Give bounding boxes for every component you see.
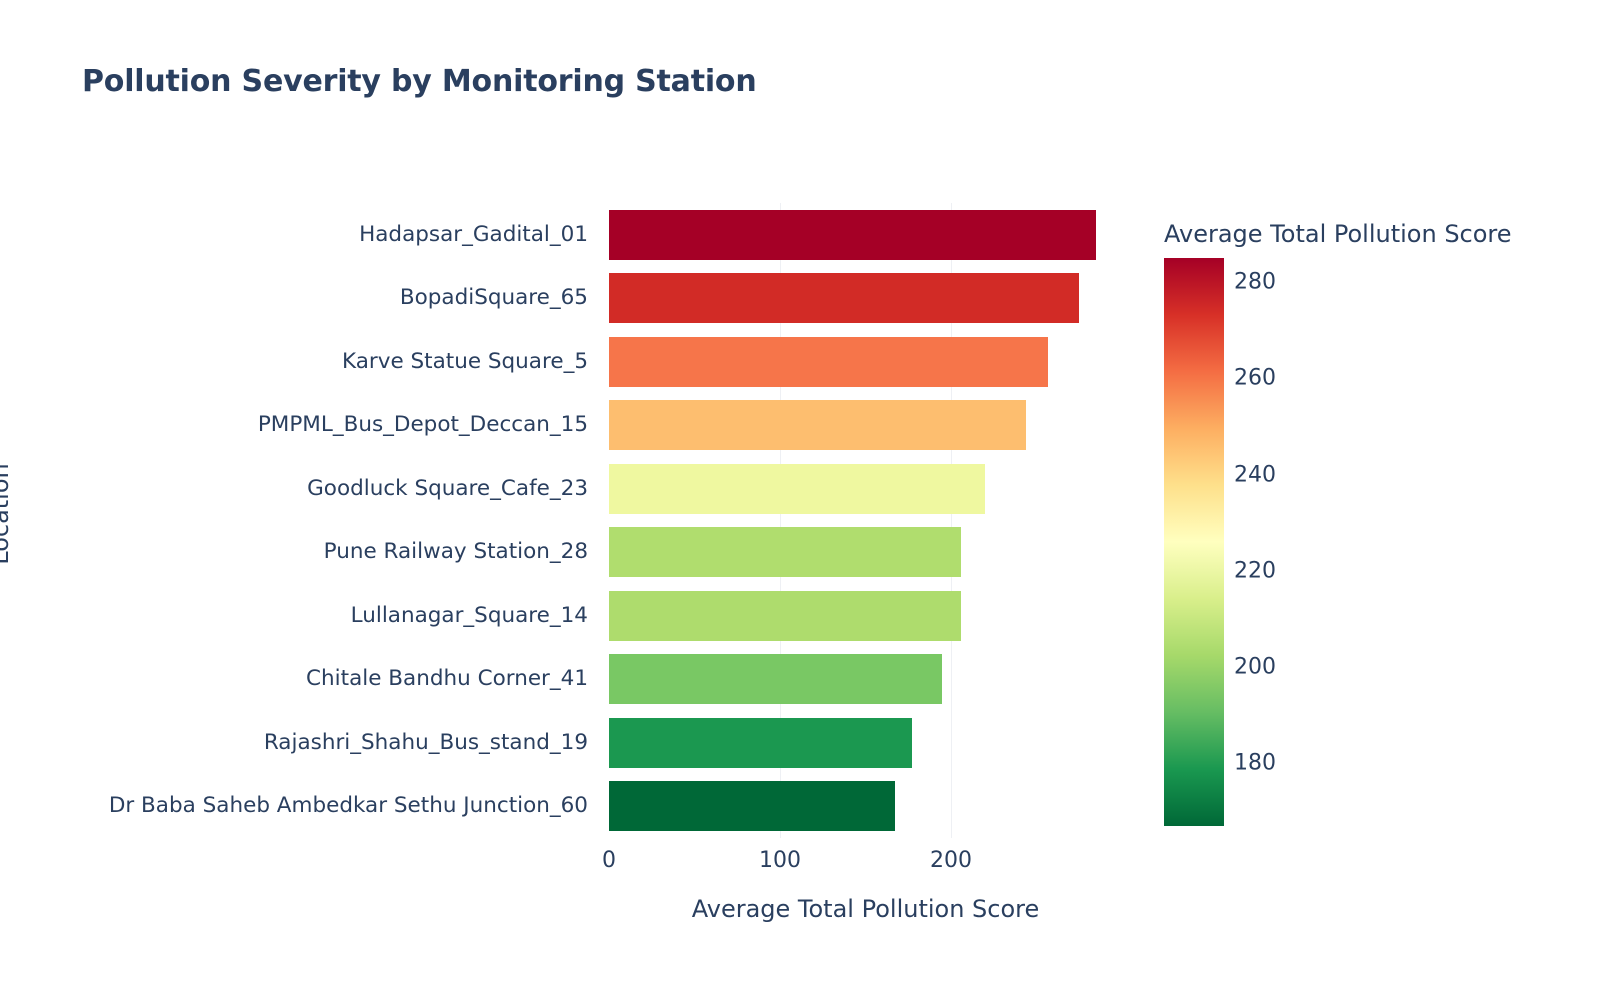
y-tick-label: Lullanagar_Square_14	[28, 605, 588, 627]
bar-chart: Pollution Severity by Monitoring Station…	[0, 0, 1600, 1000]
chart-title: Pollution Severity by Monitoring Station	[82, 64, 757, 99]
y-tick-label: Chitale Bandhu Corner_41	[28, 668, 588, 690]
colorbar-title: Average Total Pollution Score	[1164, 220, 1512, 248]
bar[interactable]	[609, 464, 985, 514]
y-tick-label: Hadapsar_Gadital_01	[28, 224, 588, 246]
colorbar-tick-label: 260	[1234, 366, 1276, 391]
bar-row	[609, 457, 1122, 521]
bar[interactable]	[609, 273, 1079, 323]
x-tick-label: 0	[602, 848, 616, 873]
bar-row	[609, 394, 1122, 458]
bar-row	[609, 711, 1122, 775]
colorbar-tick-label: 240	[1234, 462, 1276, 487]
bar[interactable]	[609, 210, 1096, 260]
y-axis-title: Location	[0, 463, 14, 565]
x-tick-label: 100	[759, 848, 801, 873]
colorbar-tick-label: 220	[1234, 558, 1276, 583]
bar-row	[609, 267, 1122, 331]
bar[interactable]	[609, 591, 961, 641]
bar-row	[609, 775, 1122, 839]
bar[interactable]	[609, 400, 1026, 450]
bar-row	[609, 330, 1122, 394]
bar-row	[609, 584, 1122, 648]
bar-row	[609, 203, 1122, 267]
colorbar-tick-label: 280	[1234, 270, 1276, 295]
x-tick-label: 200	[930, 848, 972, 873]
bar[interactable]	[609, 718, 912, 768]
y-tick-label: Karve Statue Square_5	[28, 351, 588, 373]
colorbar-tick-label: 180	[1234, 751, 1276, 776]
y-tick-label: Pune Railway Station_28	[28, 541, 588, 563]
y-tick-label: Dr Baba Saheb Ambedkar Sethu Junction_60	[28, 795, 588, 817]
bar[interactable]	[609, 527, 961, 577]
bar[interactable]	[609, 781, 895, 831]
bar-row	[609, 521, 1122, 585]
y-tick-label: BopadiSquare_65	[28, 287, 588, 309]
plot-area	[609, 203, 1122, 838]
x-axis-title: Average Total Pollution Score	[609, 895, 1122, 923]
y-tick-label: PMPML_Bus_Depot_Deccan_15	[28, 414, 588, 436]
colorbar[interactable]: 180200220240260280	[1164, 258, 1226, 826]
y-tick-label: Goodluck Square_Cafe_23	[28, 478, 588, 500]
bar-row	[609, 648, 1122, 712]
colorbar-tick-label: 200	[1234, 655, 1276, 680]
bar[interactable]	[609, 337, 1048, 387]
y-tick-label: Rajashri_Shahu_Bus_stand_19	[28, 732, 588, 754]
bar[interactable]	[609, 654, 942, 704]
colorbar-gradient	[1164, 258, 1224, 826]
